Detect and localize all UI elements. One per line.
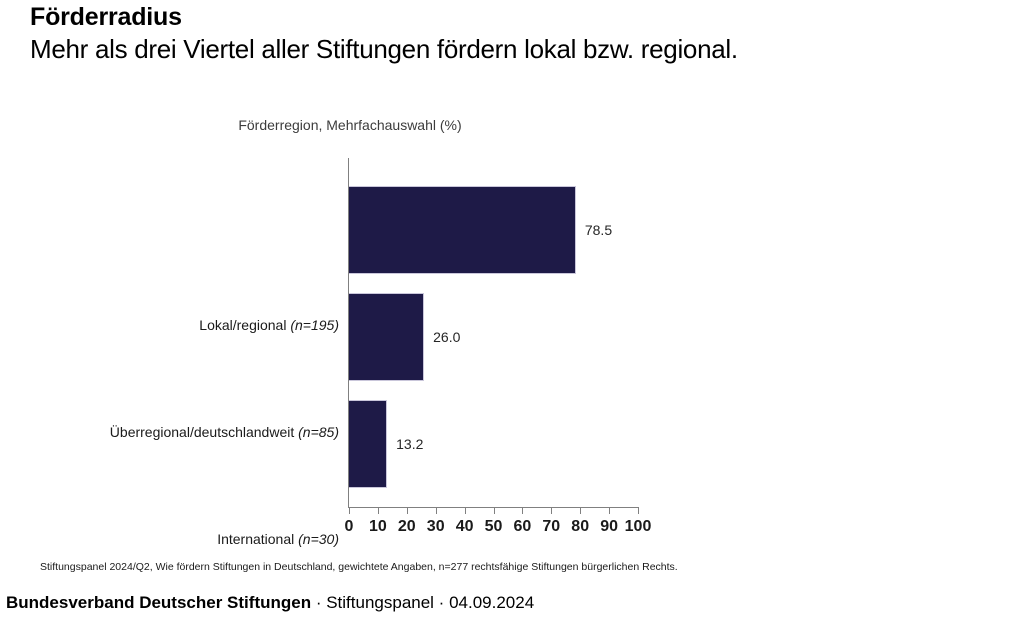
bar-value-label: 13.2 <box>396 437 423 451</box>
chart-title: Förderregion, Mehrfachauswahl (%) <box>0 117 700 133</box>
tick-mark <box>378 507 379 514</box>
category-label-1: Lokal/regional (n=195) <box>199 317 339 333</box>
bar-3 <box>349 400 387 488</box>
tick-label: 40 <box>456 518 474 536</box>
page-subtitle: Mehr als drei Viertel aller Stiftungen f… <box>30 32 1020 66</box>
tick-mark <box>551 507 552 514</box>
category-label-3: International (n=30) <box>217 531 339 547</box>
tick-label: 80 <box>571 518 589 536</box>
bar-value-label: 26.0 <box>433 330 460 344</box>
bar-chart: Förderregion, Mehrfachauswahl (%) 78.526… <box>0 95 1024 545</box>
tick-label: 30 <box>427 518 445 536</box>
tick-mark <box>638 507 639 514</box>
category-label-2: Überregional/deutschlandweit (n=85) <box>110 424 339 440</box>
bar-1 <box>349 186 576 274</box>
tick-mark <box>349 507 350 514</box>
bar-value-label: 78.5 <box>585 223 612 237</box>
tick-label: 90 <box>600 518 618 536</box>
bar-2 <box>349 293 424 381</box>
source-footnote: Stiftungspanel 2024/Q2, Wie fördern Stif… <box>40 560 678 574</box>
tick-mark <box>494 507 495 514</box>
tick-label: 20 <box>398 518 416 536</box>
tick-mark <box>580 507 581 514</box>
footer-organization: Bundesverband Deutscher Stiftungen <box>6 593 311 612</box>
tick-mark <box>609 507 610 514</box>
footer-meta: · Stiftungspanel · 04.09.2024 <box>311 593 534 612</box>
tick-label: 60 <box>513 518 531 536</box>
footer: Bundesverband Deutscher Stiftungen · Sti… <box>6 592 534 614</box>
tick-mark <box>522 507 523 514</box>
tick-label: 70 <box>542 518 560 536</box>
headline-block: Förderradius Mehr als drei Viertel aller… <box>30 2 1020 66</box>
tick-label: 0 <box>345 518 354 536</box>
page-title: Förderradius <box>30 2 1020 32</box>
tick-label: 10 <box>369 518 387 536</box>
tick-label: 50 <box>485 518 503 536</box>
tick-mark <box>465 507 466 514</box>
tick-mark <box>407 507 408 514</box>
tick-mark <box>436 507 437 514</box>
plot-area: 78.526.013.2 0102030405060708090100 <box>349 158 638 507</box>
tick-label: 100 <box>625 518 652 536</box>
